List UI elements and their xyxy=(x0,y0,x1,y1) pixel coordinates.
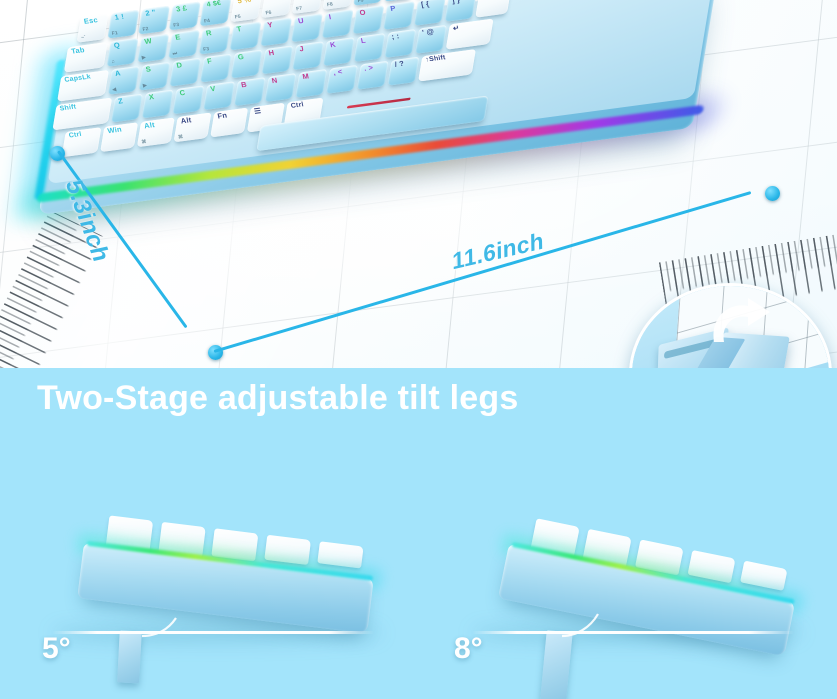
keycap-sublegend: ⌘ xyxy=(178,134,184,140)
keycap-legend: U xyxy=(298,17,305,25)
keycap-legend: C xyxy=(179,89,186,97)
keycap-sublegend: ▶ xyxy=(141,55,146,61)
keycap[interactable]: 6 ^F6 xyxy=(261,0,293,18)
keycap-legend: , < xyxy=(333,68,344,76)
keycap-legend: Esc xyxy=(83,16,98,25)
keycap[interactable]: Win xyxy=(100,122,138,152)
keycap[interactable]: E⏭ xyxy=(168,30,200,59)
angle-arc-icon xyxy=(138,592,198,640)
keycap[interactable]: N xyxy=(265,73,297,102)
keycap-legend: A xyxy=(114,70,121,78)
keycap-legend: T xyxy=(236,25,242,33)
keycap[interactable]: C xyxy=(172,85,204,114)
keycap-legend: / ? xyxy=(394,60,405,68)
keycap[interactable]: Esc~` xyxy=(77,14,109,43)
keyboard-side-profile xyxy=(496,514,801,666)
dimension-dot-right xyxy=(765,186,780,201)
keycap-sublegend: ◀ xyxy=(112,87,117,93)
keycap-legend: X xyxy=(148,93,155,101)
keycap[interactable]: M xyxy=(295,69,327,98)
keycap[interactable]: Q♫ xyxy=(107,38,139,67)
angle-label: 8° xyxy=(454,632,483,666)
keycap-legend: Fn xyxy=(217,112,228,120)
keycap[interactable]: 5 %F5 xyxy=(230,0,262,22)
keycap-legend: F xyxy=(207,57,213,65)
keycap-legend: S xyxy=(145,66,152,74)
keyboard-hero-panel: Esc~`1 !F12 "F23 £F34 $€F45 %F56 ^F67 &F… xyxy=(0,0,837,368)
keycap[interactable]: X xyxy=(142,89,174,118)
keycap[interactable]: Ctrl xyxy=(62,127,102,157)
keycap-legend: Win xyxy=(107,126,123,135)
rotate-arrow-icon xyxy=(706,296,776,358)
keycap[interactable]: A◀ xyxy=(108,66,140,95)
keycap-legend: 5 % xyxy=(237,0,252,5)
keycap-legend: B xyxy=(240,81,247,89)
baseline-guide xyxy=(472,631,794,634)
keycap[interactable]: S▶ xyxy=(138,62,170,91)
keycap-legend: ' @ xyxy=(422,28,435,37)
keycap-sublegend: F2 xyxy=(142,26,149,32)
keycap-legend: P xyxy=(390,5,397,13)
keycap[interactable]: / ? xyxy=(387,57,419,86)
keycap[interactable]: K xyxy=(323,37,355,66)
keycap[interactable]: T xyxy=(229,21,261,50)
product-feature-image: Esc~`1 !F12 "F23 £F34 $€F45 %F56 ^F67 &F… xyxy=(0,0,837,699)
keycap-legend: Alt xyxy=(143,121,155,130)
keycap-legend: R xyxy=(205,29,212,37)
keycap[interactable]: O xyxy=(352,5,384,34)
keycap-sublegend: F5 xyxy=(234,14,241,20)
keycap[interactable]: Fn xyxy=(210,108,248,138)
keycap[interactable]: RF3 xyxy=(199,26,231,55)
keycap-legend: O xyxy=(359,9,366,17)
keycap[interactable]: 8 *F8 xyxy=(322,0,354,10)
keycap-sublegend: F7 xyxy=(296,6,303,12)
keycap[interactable]: H xyxy=(261,45,293,74)
keycap-legend: Tab xyxy=(71,46,86,55)
keycap-legend: [ { xyxy=(420,0,429,8)
keycap[interactable]: Z xyxy=(111,94,143,123)
keycap[interactable]: [ { xyxy=(414,0,446,26)
keycap-sublegend: F8 xyxy=(326,2,333,8)
keyboard-side-profile xyxy=(76,513,378,644)
angle-arc-icon xyxy=(558,592,618,640)
keycap[interactable]: ; : xyxy=(384,29,416,58)
keycap-legend: ; : xyxy=(391,32,400,40)
keycap[interactable]: V xyxy=(203,81,235,110)
keycap-sublegend: ⏭ xyxy=(172,51,178,57)
keycap-legend: ☰ xyxy=(254,107,262,115)
keycap-legend: Ctrl xyxy=(290,101,304,109)
keycap-legend: 6 ^ xyxy=(268,0,281,1)
keycap-legend: Z xyxy=(118,97,124,105)
keycap-legend: 4 $€ xyxy=(206,0,222,8)
keycap[interactable]: W▶ xyxy=(137,34,169,63)
keycap-legend: J xyxy=(299,45,305,53)
tilt-stage-one: 5° xyxy=(18,470,408,670)
keycap-sublegend: ▶ xyxy=(143,83,148,89)
keycap-legend: H xyxy=(268,49,275,57)
angle-label: 5° xyxy=(42,632,71,666)
keycap-legend: Y xyxy=(267,21,274,29)
keycap[interactable]: F xyxy=(200,54,232,83)
keycap[interactable]: P xyxy=(383,1,415,30)
keycap-sublegend: F3 xyxy=(203,46,210,52)
keycap[interactable]: D xyxy=(169,58,201,87)
keycap-legend: E xyxy=(175,33,182,41)
keycap-legend: ↑Shift xyxy=(425,54,446,63)
keycap[interactable]: 1 !F1 xyxy=(107,10,139,39)
keycap-legend: ] } xyxy=(451,0,460,4)
keycap-legend: M xyxy=(302,73,310,81)
keycap-legend: Ctrl xyxy=(68,131,82,139)
keycap-legend: Q xyxy=(113,42,120,50)
keycap-sublegend: F3 xyxy=(173,22,180,28)
keycap-legend: . > xyxy=(363,64,374,72)
keycap-legend: G xyxy=(237,53,244,61)
keycap[interactable]: G xyxy=(231,49,263,78)
keycap-sublegend: F4 xyxy=(204,18,211,24)
keycap-sublegend: F9 xyxy=(357,0,364,4)
keycap-legend: CapsLk xyxy=(64,74,92,84)
keycap[interactable]: Alt⌘ xyxy=(174,113,212,143)
keycap-sublegend: ⌘ xyxy=(141,139,147,145)
keycap[interactable]: I xyxy=(322,9,354,38)
keycap[interactable]: . > xyxy=(357,61,389,90)
keycap-legend: 3 £ xyxy=(175,4,187,13)
keycap-sublegend: F6 xyxy=(265,10,272,16)
keycap[interactable]: B xyxy=(234,77,266,106)
keycap[interactable]: L xyxy=(354,33,386,62)
keycap[interactable]: 3 £F3 xyxy=(169,1,201,30)
keycap-legend: N xyxy=(271,77,278,85)
keycap-legend: V xyxy=(210,85,217,93)
keycap-legend: 1 ! xyxy=(114,13,125,21)
keycap-legend: D xyxy=(176,61,183,69)
keycap-legend: K xyxy=(329,41,336,49)
baseline-guide xyxy=(52,631,374,634)
keycap[interactable]: 7 &F7 xyxy=(292,0,324,14)
keycap[interactable]: Y xyxy=(260,17,292,46)
keycap-legend: Alt xyxy=(180,116,192,125)
panel-headline: Two-Stage adjustable tilt legs xyxy=(37,381,518,415)
keycap-legend: W xyxy=(144,37,153,45)
keycap-sublegend: ~` xyxy=(81,35,87,41)
keycap-sublegend: ♫ xyxy=(111,59,116,65)
tilt-leg-closeup-inset xyxy=(629,283,832,368)
tilt-stage-two: 8° xyxy=(438,470,828,670)
keycap[interactable]: 2 "F2 xyxy=(138,6,170,35)
keycap[interactable]: , < xyxy=(326,65,358,94)
keycap[interactable]: J xyxy=(292,41,324,70)
keycap-sublegend: F1 xyxy=(111,30,118,36)
keycap[interactable]: U xyxy=(291,13,323,42)
keycap-legend: L xyxy=(360,37,366,45)
keycap-legend: Shift xyxy=(59,104,77,113)
keycap[interactable]: Alt⌘ xyxy=(137,117,175,147)
keycap[interactable]: 4 $€F4 xyxy=(200,0,232,26)
keycap-legend: 2 " xyxy=(145,9,157,18)
keycap-legend: I xyxy=(328,13,332,20)
keycap[interactable]: ' @ xyxy=(415,25,447,54)
keycap-legend: ↵ xyxy=(452,24,460,32)
